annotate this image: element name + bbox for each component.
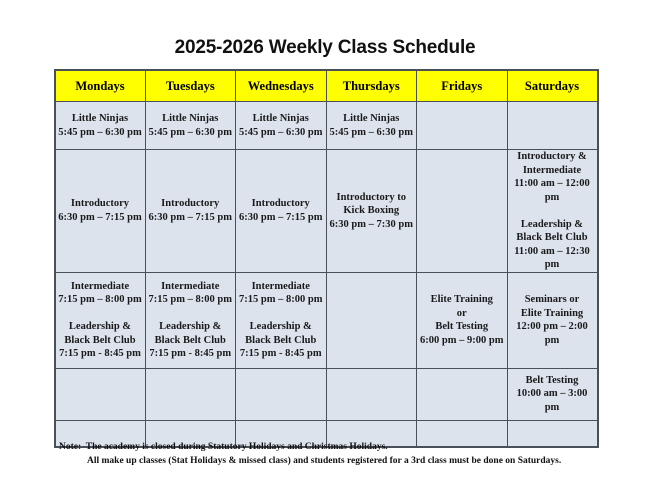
page-title: 2025-2026 Weekly Class Schedule xyxy=(0,0,650,59)
column-header-fridays: Fridays xyxy=(417,70,508,102)
schedule-cell-tue-3: Intermediate 7:15 pm – 8:00 pm Leadershi… xyxy=(145,272,236,368)
table-row: Intermediate 7:15 pm – 8:00 pm Leadershi… xyxy=(55,272,598,368)
cell-text: Little Ninjas 5:45 pm – 6:30 pm xyxy=(236,112,326,139)
cell-text: Little Ninjas 5:45 pm – 6:30 pm xyxy=(56,112,145,139)
cell-text: Belt Testing 10:00 am – 3:00 pm xyxy=(508,374,597,415)
cell-text: Elite Training or Belt Testing 6:00 pm –… xyxy=(417,293,507,347)
cell-text: Little Ninjas 5:45 pm – 6:30 pm xyxy=(327,112,417,139)
table-row: Belt Testing 10:00 am – 3:00 pm xyxy=(55,368,598,420)
schedule-cell-tue-2: Introductory 6:30 pm – 7:15 pm xyxy=(145,150,236,273)
schedule-cell-mon-2: Introductory 6:30 pm – 7:15 pm xyxy=(55,150,146,273)
footer-note-line-2: All make up classes (Stat Holidays & mis… xyxy=(59,454,619,468)
table-row: Little Ninjas 5:45 pm – 6:30 pm Little N… xyxy=(55,102,598,150)
column-header-mondays: Mondays xyxy=(55,70,146,102)
footer-notes: Note: The academy is closed during Statu… xyxy=(59,440,619,468)
schedule-cell-tue-1: Little Ninjas 5:45 pm – 6:30 pm xyxy=(145,102,236,150)
schedule-cell-mon-1: Little Ninjas 5:45 pm – 6:30 pm xyxy=(55,102,146,150)
schedule-table-container: Mondays Tuesdays Wednesdays Thursdays Fr… xyxy=(54,69,597,448)
cell-text: Little Ninjas 5:45 pm – 6:30 pm xyxy=(146,112,236,139)
schedule-cell-fri-1 xyxy=(417,102,508,150)
cell-text: Intermediate 7:15 pm – 8:00 pm Leadershi… xyxy=(56,280,145,361)
cell-text: Introductory 6:30 pm – 7:15 pm xyxy=(56,197,145,224)
schedule-cell-sat-4: Belt Testing 10:00 am – 3:00 pm xyxy=(507,368,598,420)
schedule-cell-wed-1: Little Ninjas 5:45 pm – 6:30 pm xyxy=(236,102,327,150)
schedule-cell-wed-3: Intermediate 7:15 pm – 8:00 pm Leadershi… xyxy=(236,272,327,368)
schedule-cell-wed-2: Introductory 6:30 pm – 7:15 pm xyxy=(236,150,327,273)
schedule-cell-sat-1 xyxy=(507,102,598,150)
cell-text: Introductory 6:30 pm – 7:15 pm xyxy=(236,197,326,224)
table-row: Introductory 6:30 pm – 7:15 pm Introduct… xyxy=(55,150,598,273)
schedule-cell-mon-4 xyxy=(55,368,146,420)
schedule-cell-wed-4 xyxy=(236,368,327,420)
schedule-cell-fri-3: Elite Training or Belt Testing 6:00 pm –… xyxy=(417,272,508,368)
footer-note-line-1: Note: The academy is closed during Statu… xyxy=(59,440,619,454)
schedule-cell-thu-2: Introductory to Kick Boxing 6:30 pm – 7:… xyxy=(326,150,417,273)
column-header-saturdays: Saturdays xyxy=(507,70,598,102)
column-header-tuesdays: Tuesdays xyxy=(145,70,236,102)
schedule-cell-thu-1: Little Ninjas 5:45 pm – 6:30 pm xyxy=(326,102,417,150)
cell-text: Introductory & Intermediate 11:00 am – 1… xyxy=(508,150,597,272)
cell-text: Seminars or Elite Training 12:00 pm – 2:… xyxy=(508,293,597,347)
schedule-cell-fri-4 xyxy=(417,368,508,420)
schedule-cell-fri-2 xyxy=(417,150,508,273)
schedule-cell-thu-4 xyxy=(326,368,417,420)
schedule-cell-thu-3 xyxy=(326,272,417,368)
schedule-cell-sat-2: Introductory & Intermediate 11:00 am – 1… xyxy=(507,150,598,273)
cell-text: Introductory to Kick Boxing 6:30 pm – 7:… xyxy=(327,191,417,232)
cell-text: Intermediate 7:15 pm – 8:00 pm Leadershi… xyxy=(146,280,236,361)
column-header-wednesdays: Wednesdays xyxy=(236,70,327,102)
cell-text: Introductory 6:30 pm – 7:15 pm xyxy=(146,197,236,224)
schedule-cell-tue-4 xyxy=(145,368,236,420)
column-header-thursdays: Thursdays xyxy=(326,70,417,102)
table-header-row: Mondays Tuesdays Wednesdays Thursdays Fr… xyxy=(55,70,598,102)
schedule-cell-mon-3: Intermediate 7:15 pm – 8:00 pm Leadershi… xyxy=(55,272,146,368)
cell-text: Intermediate 7:15 pm – 8:00 pm Leadershi… xyxy=(236,280,326,361)
schedule-cell-sat-3: Seminars or Elite Training 12:00 pm – 2:… xyxy=(507,272,598,368)
weekly-class-schedule-table: Mondays Tuesdays Wednesdays Thursdays Fr… xyxy=(54,69,599,448)
